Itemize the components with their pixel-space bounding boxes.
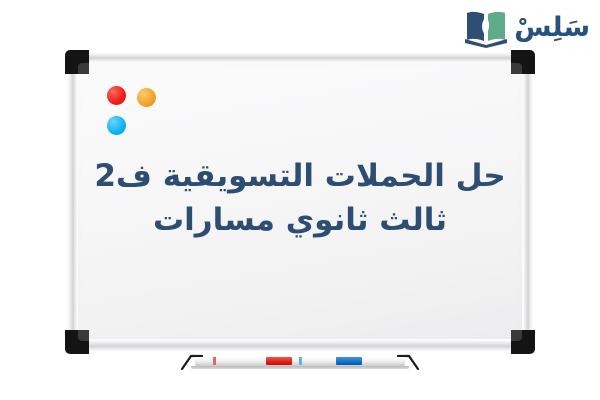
magnet-red	[107, 86, 126, 105]
whiteboard: حل الحملات التسويقية ف2 ثالث ثانوي مسارا…	[65, 50, 535, 360]
brand-name: سَلِسْ	[514, 14, 590, 43]
board-title-line-1: حل الحملات التسويقية ف2	[93, 154, 507, 198]
frame-rail-bottom	[69, 339, 531, 352]
marker-red-tip	[213, 357, 216, 365]
open-book-icon	[464, 8, 508, 48]
marker-blue-tip	[299, 357, 302, 365]
board-title-line-2: ثالث ثانوي مسارات	[93, 198, 507, 242]
whiteboard-surface: حل الحملات التسويقية ف2 ثالث ثانوي مسارا…	[73, 58, 527, 346]
tray-shadow	[191, 366, 409, 369]
marker-tray	[181, 352, 419, 374]
frame-corner-top-left	[65, 50, 89, 74]
marker-blue	[336, 357, 362, 365]
frame-corner-bottom-left	[65, 330, 89, 354]
frame-rail-right	[522, 54, 533, 350]
brand-logo[interactable]: سَلِسْ	[464, 6, 590, 50]
board-title: حل الحملات التسويقية ف2 ثالث ثانوي مسارا…	[93, 154, 507, 242]
magnet-group	[107, 86, 167, 142]
frame-rail-left	[67, 54, 78, 350]
magnet-blue	[107, 116, 126, 135]
marker-red	[266, 357, 292, 365]
magnet-orange	[137, 88, 156, 107]
frame-rail-top	[69, 52, 531, 63]
frame-corner-bottom-right	[511, 330, 535, 354]
frame-corner-top-right	[511, 50, 535, 74]
